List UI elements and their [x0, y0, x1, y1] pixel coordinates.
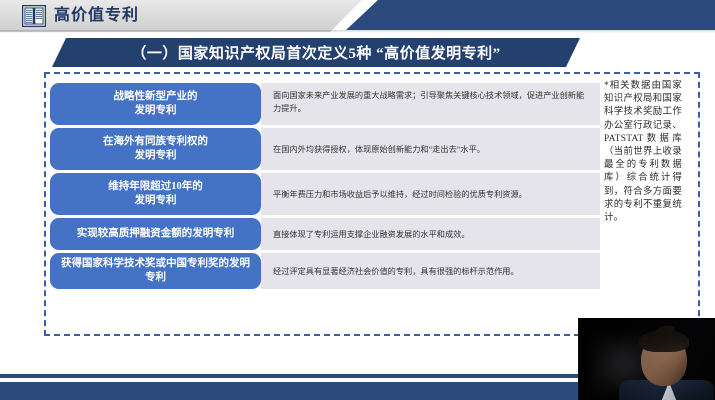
presenter-video-overlay[interactable] — [578, 318, 715, 400]
patent-type-description: 在国内外均获得授权，体现原始创新能力和“走出去”水平。 — [261, 128, 600, 170]
patent-type-description: 平衡年费压力和市场收益后予以维持，经过时间检验的优质专利资源。 — [261, 173, 600, 215]
page-title: 高价值专利 — [54, 6, 139, 26]
patent-type-description: 经过评定具有显著经济社会价值的专利，具有很强的标杆示范作用。 — [261, 253, 600, 289]
patent-type-description: 面向国家未来产业发展的重大战略需求；引导聚焦关键核心技术领域，促进产业创新能力提… — [261, 83, 600, 125]
patent-type-label: 在海外有同族专利权的发明专利 — [50, 128, 261, 170]
patent-type-description: 直接体现了专利运用支撑企业融资发展的水平和成效。 — [261, 218, 600, 250]
list-item[interactable]: 维持年限超过10年的发明专利 平衡年费压力和市场收益后予以维持，经过时间检验的优… — [50, 173, 600, 215]
patent-type-label: 维持年限超过10年的发明专利 — [50, 173, 261, 215]
header-shadow — [0, 30, 715, 33]
patent-type-label: 战略性新型产业的发明专利 — [50, 83, 261, 125]
section-title-banner — [52, 38, 580, 67]
open-book-icon — [22, 5, 46, 27]
list-item[interactable]: 在海外有同族专利权的发明专利 在国内外均获得授权，体现原始创新能力和“走出去”水… — [50, 128, 600, 170]
list-item[interactable]: 获得国家科学技术奖或中国专利奖的发明专利 经过评定具有显著经济社会价值的专利，具… — [50, 253, 600, 289]
data-source-footnote: *相关数据由国家知识产权局和国家科学技术奖励工作办公室行政记录、PATSTAT数… — [604, 80, 682, 330]
patent-type-list: 战略性新型产业的发明专利 面向国家未来产业发展的重大战略需求；引导聚焦关键核心技… — [50, 83, 600, 292]
patent-type-label: 获得国家科学技术奖或中国专利奖的发明专利 — [50, 253, 261, 289]
list-item[interactable]: 实现较高质押融资金额的发明专利 直接体现了专利运用支撑企业融资发展的水平和成效。 — [50, 218, 600, 250]
patent-type-label: 实现较高质押融资金额的发明专利 — [50, 218, 261, 250]
list-item[interactable]: 战略性新型产业的发明专利 面向国家未来产业发展的重大战略需求；引导聚焦关键核心技… — [50, 83, 600, 125]
